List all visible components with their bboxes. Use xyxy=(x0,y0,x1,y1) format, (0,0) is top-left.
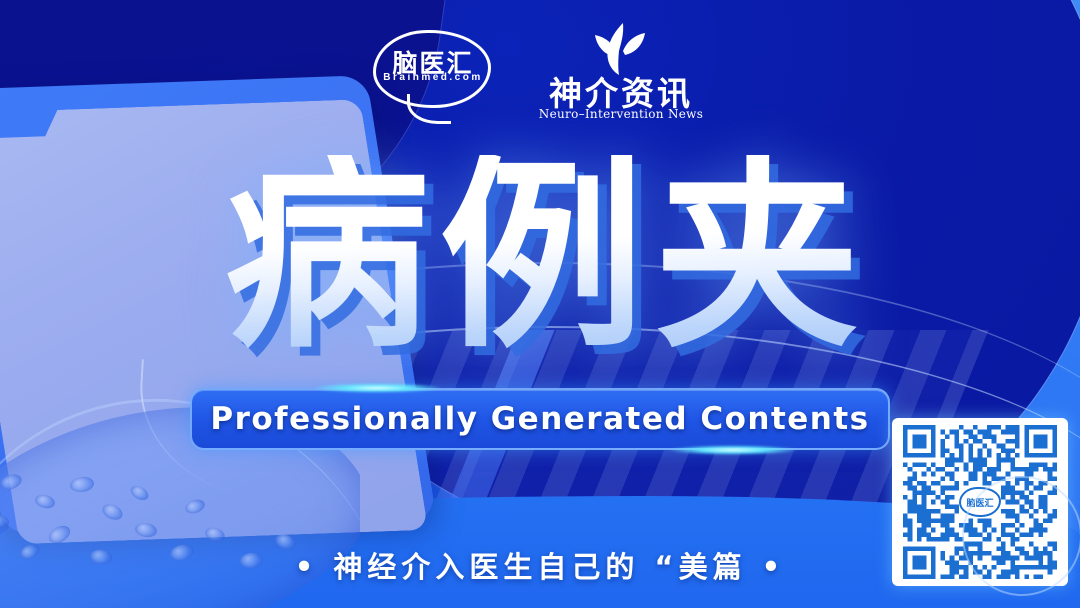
neuro-logo: 神介资讯 Neuro–Intervention News xyxy=(531,23,711,129)
logo-row: 脑医汇 Brainmed.com 神介资讯 Neuro–Intervention… xyxy=(0,20,1080,132)
brainmed-logo-en: Brainmed.com xyxy=(369,72,497,83)
banner-glow-top-icon xyxy=(312,383,442,393)
main-title: 病例夹 xyxy=(211,155,870,360)
brain-tail-icon xyxy=(407,94,451,124)
qr-code-block[interactable]: 脑医汇 xyxy=(892,418,1068,586)
pgc-banner: Professionally Generated Contents xyxy=(190,388,890,450)
banner-glow-bottom-icon xyxy=(668,445,798,455)
banner-label: Professionally Generated Contents xyxy=(210,401,869,437)
qr-center-logo: 脑医汇 xyxy=(959,487,1001,517)
brainmed-logo: 脑医汇 Brainmed.com xyxy=(369,24,497,128)
neuro-logo-en: Neuro–Intervention News xyxy=(531,107,711,121)
main-title-area: 病例夹 xyxy=(0,142,1080,372)
poster-canvas: 脑医汇 Brainmed.com 神介资讯 Neuro–Intervention… xyxy=(0,0,1080,608)
